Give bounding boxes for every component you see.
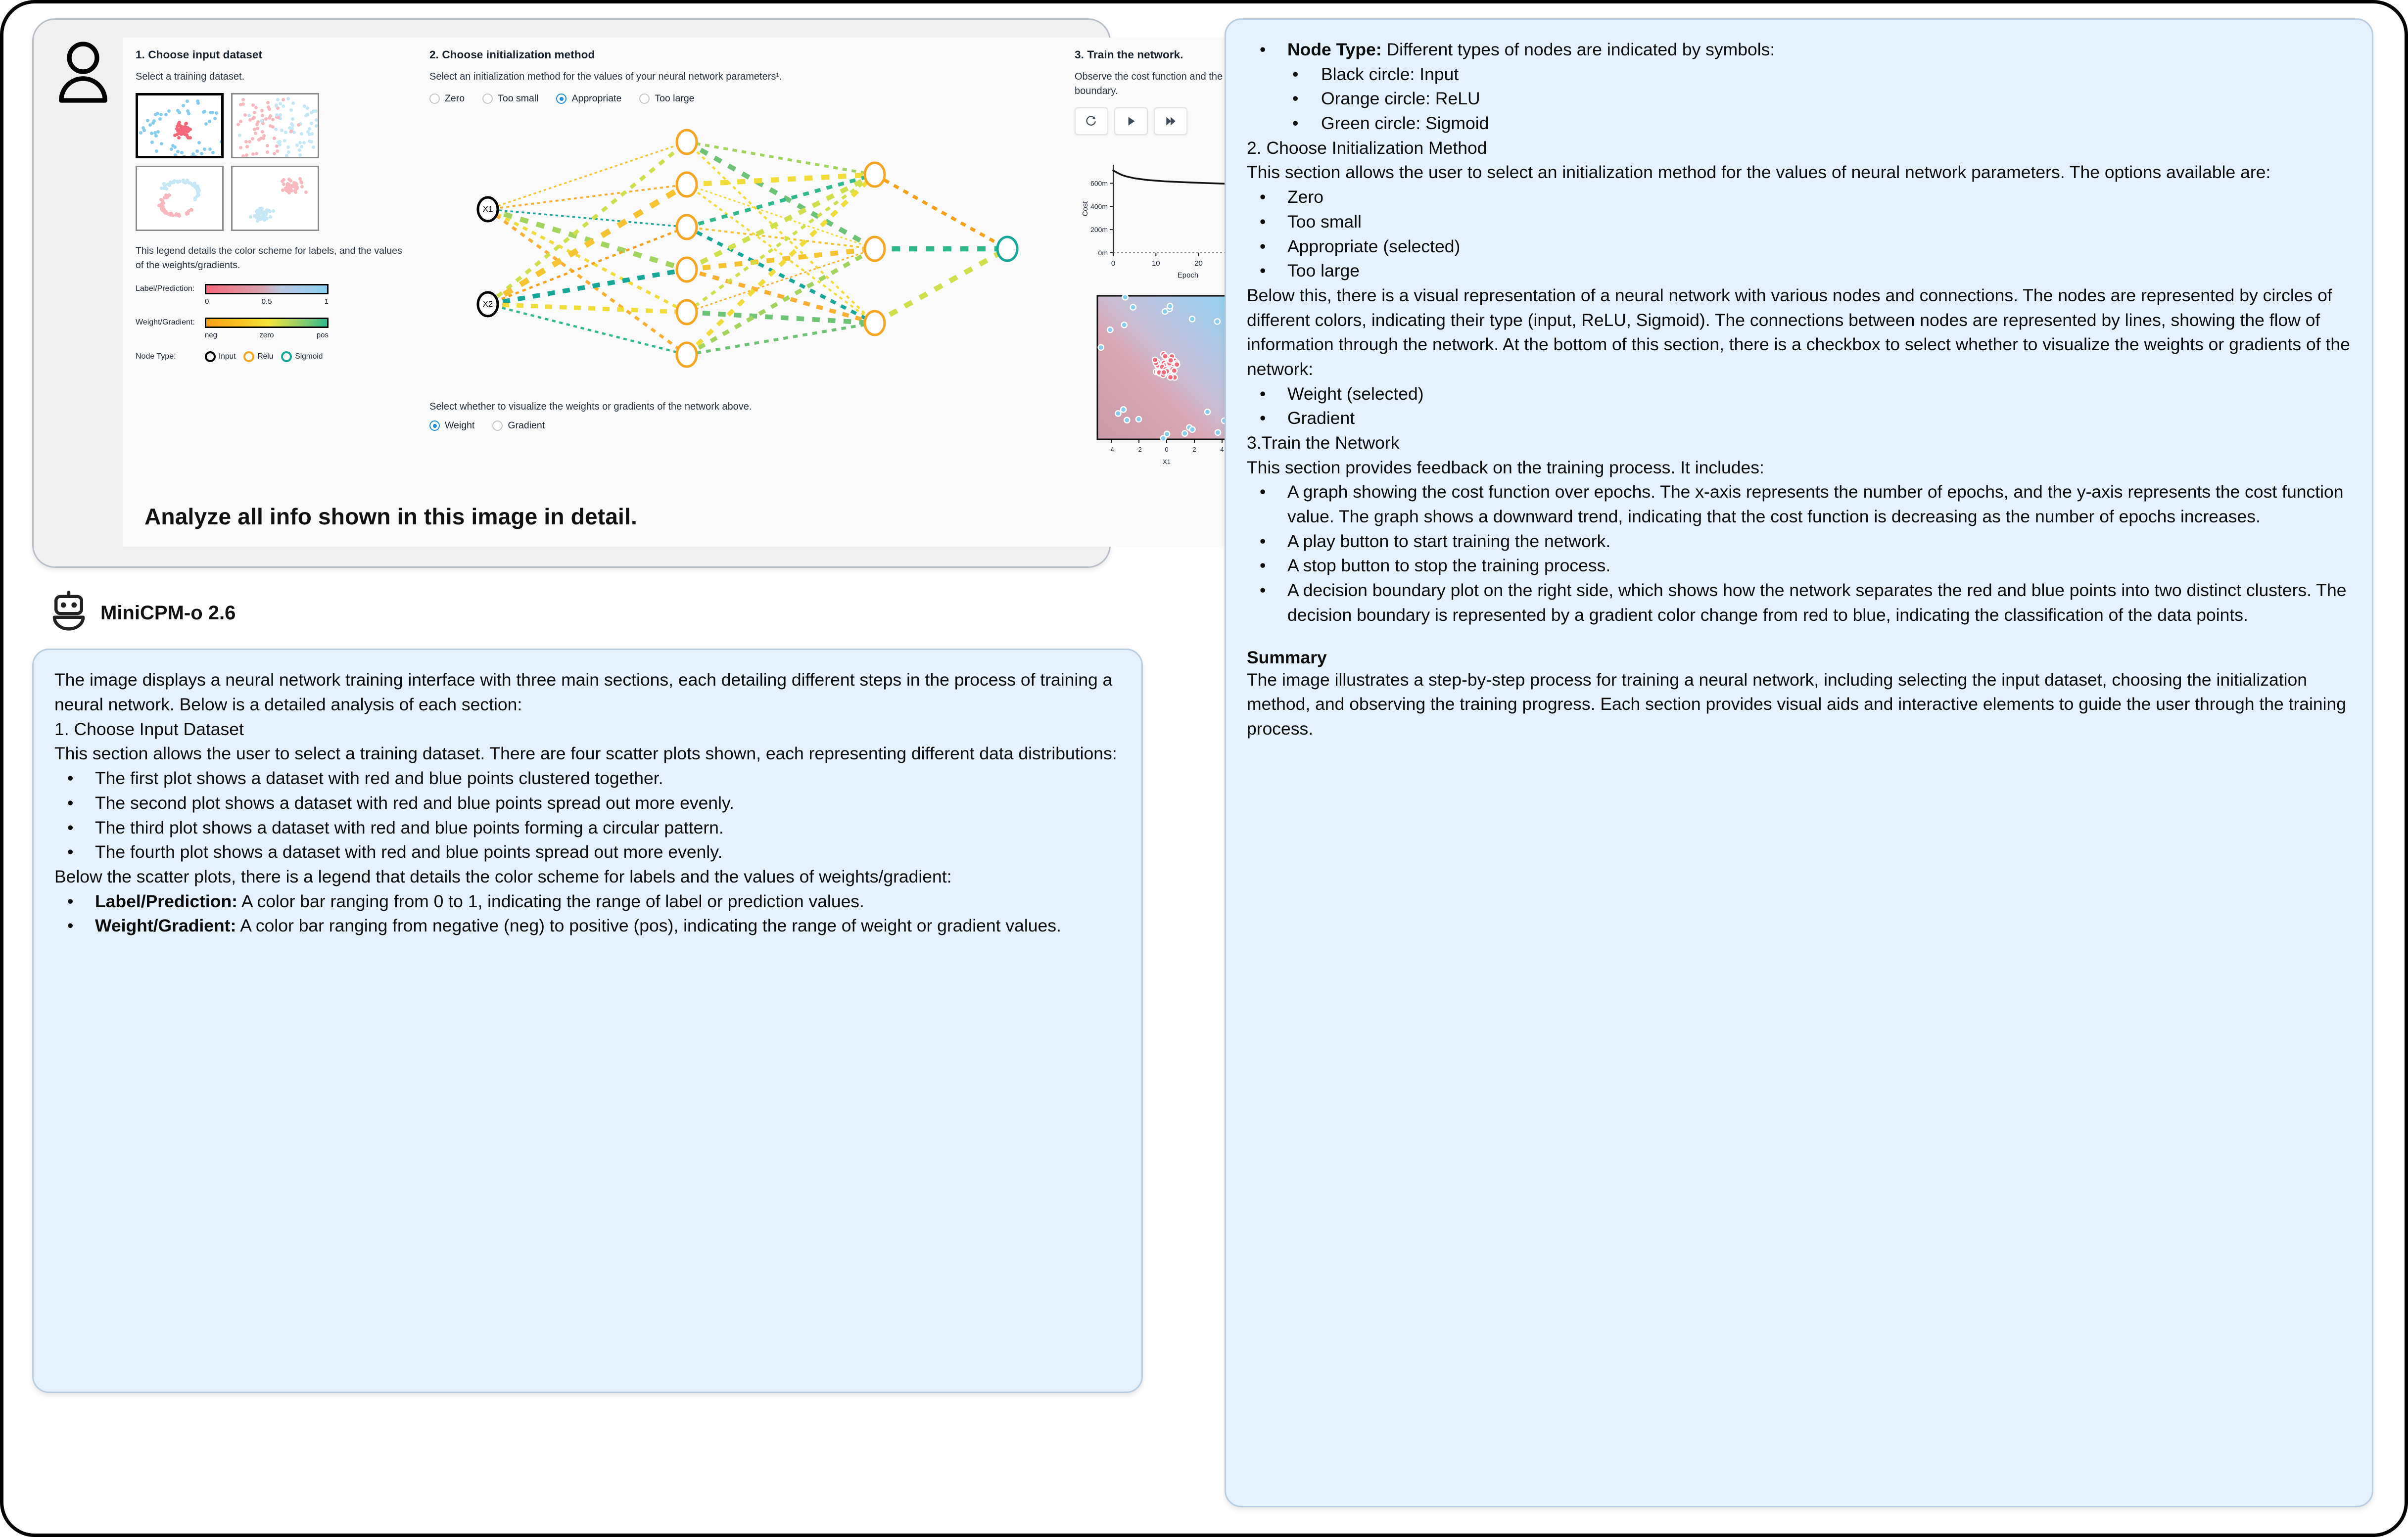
- x-tick-label: 20: [1194, 259, 1203, 268]
- play-button[interactable]: [1114, 107, 1148, 135]
- scatter-point: [253, 128, 256, 131]
- network-edge: [875, 175, 1007, 249]
- list-item: Appropriate (selected): [1247, 234, 2352, 259]
- network-node[interactable]: [677, 343, 697, 367]
- reset-icon: [1085, 115, 1098, 128]
- scatter-point: [300, 181, 303, 185]
- assistant-model-name: MiniCPM-o 2.6: [100, 602, 236, 624]
- label-prediction-ticks: 0 0.5 1: [205, 297, 329, 306]
- scatter-point: [265, 217, 269, 220]
- scatter-point: [239, 146, 242, 149]
- scatter-point: [282, 178, 285, 182]
- page-root: 1. Choose input dataset Select a trainin…: [0, 0, 2408, 1537]
- network-edge: [687, 175, 875, 185]
- init-option-too-small[interactable]: Too small: [482, 93, 538, 104]
- scatter-point: [302, 141, 306, 144]
- y-tick-label: 0m: [1098, 249, 1108, 257]
- scatter-point: [298, 141, 302, 144]
- scatter-point: [291, 124, 294, 127]
- wg-tick-2: pos: [287, 331, 329, 339]
- scatter-point: [251, 137, 254, 140]
- left-column: 1. Choose input dataset Select a trainin…: [32, 18, 1180, 1393]
- scatter-point: [148, 123, 152, 127]
- scatter-point: [208, 120, 211, 123]
- radio-weight-icon[interactable]: [429, 420, 440, 431]
- scatter-point: [289, 108, 293, 112]
- scatter-point: [286, 145, 290, 149]
- radio-gradient-icon[interactable]: [492, 420, 503, 431]
- scatter-point: [257, 217, 260, 221]
- node-type-label: Node Type:: [136, 352, 205, 361]
- scatter-point: [315, 124, 318, 128]
- scatter-point: [165, 187, 168, 190]
- scatter-point: [164, 113, 168, 116]
- answer-heading-3: 3.Train the Network: [1247, 431, 2352, 456]
- scatter-point: [258, 208, 262, 212]
- scatter-point: [275, 113, 279, 117]
- data-point: [1215, 319, 1220, 325]
- node-type-input: Input: [205, 351, 236, 362]
- scatter-point: [312, 145, 315, 149]
- y-tick-label: 200m: [1090, 226, 1108, 234]
- network-node[interactable]: [677, 173, 697, 196]
- viz-radio-group: Weight Gradient: [429, 420, 1066, 431]
- scatter-point: [256, 120, 260, 124]
- network-node[interactable]: [677, 258, 697, 281]
- data-point: [1152, 357, 1158, 363]
- network-node[interactable]: [997, 237, 1017, 261]
- sigmoid-node-label: Sigmoid: [295, 352, 323, 361]
- init-option-appropriate[interactable]: Appropriate: [556, 93, 621, 104]
- data-point: [1189, 317, 1195, 322]
- input-node-label: Input: [219, 352, 236, 361]
- scatter-point: [289, 179, 292, 183]
- sigmoid-node-icon: [281, 351, 292, 362]
- step2-title: 2. Choose initialization method: [429, 48, 1066, 61]
- node-type-bullet-list: Node Type: Different types of nodes are …: [1247, 38, 2352, 62]
- train-bullets-list: A graph showing the cost function over e…: [1247, 480, 2352, 627]
- scatter-point: [208, 147, 212, 151]
- data-point: [1215, 430, 1221, 435]
- scatter-point: [266, 144, 269, 147]
- scatter-point: [285, 185, 289, 188]
- scatter-point: [254, 106, 258, 109]
- weight-gradient-ticks: neg zero pos: [205, 331, 329, 339]
- y-tick-label: 400m: [1090, 203, 1108, 211]
- scatter-point: [158, 117, 162, 121]
- network-node[interactable]: [865, 237, 885, 261]
- scatter-point: [197, 141, 201, 144]
- scatter-point: [260, 109, 264, 112]
- viz-option-gradient[interactable]: Gradient: [492, 420, 545, 431]
- network-edge: [875, 249, 1007, 323]
- init-option-too-large[interactable]: Too large: [639, 93, 694, 104]
- scatter-point: [220, 140, 223, 143]
- step1-subtitle: Select a training dataset.: [136, 70, 413, 84]
- dataset-thumb-1[interactable]: [136, 93, 224, 158]
- scatter-point: [251, 152, 255, 156]
- scatter-point: [243, 113, 247, 117]
- scatter-point: [203, 147, 206, 151]
- init-option-appropriate-label: Appropriate: [571, 93, 621, 104]
- scatter-point: [282, 104, 285, 108]
- scatter-point: [276, 98, 280, 101]
- lp-tick-1: 0.5: [246, 297, 287, 306]
- scatter-point: [150, 132, 153, 135]
- data-point: [1115, 411, 1121, 417]
- scatter-point: [284, 131, 287, 134]
- network-node[interactable]: [865, 163, 885, 186]
- list-item: Label/Prediction: A color bar ranging fr…: [54, 889, 1122, 914]
- list-item: Black circle: Input: [1247, 62, 2352, 87]
- scatter-point: [259, 137, 263, 140]
- scatter-point: [236, 123, 240, 126]
- scatter-point: [173, 134, 177, 137]
- x-tick-label: 10: [1152, 259, 1160, 268]
- network-node[interactable]: [677, 130, 697, 154]
- weight-gradient-label: Weight/Gradient:: [136, 318, 205, 327]
- answer-intro: The image displays a neural network trai…: [54, 668, 1122, 717]
- list-item: The first plot shows a dataset with red …: [54, 766, 1122, 791]
- scatter-point: [300, 185, 304, 188]
- scatter-point: [241, 98, 245, 101]
- scatter-point: [256, 127, 259, 130]
- assistant-answer-bubble-left: The image displays a neural network trai…: [32, 649, 1143, 1393]
- scatter-point: [176, 150, 180, 153]
- input-node-icon: [205, 351, 216, 362]
- scatter-point: [189, 155, 193, 158]
- scatter-point: [315, 118, 318, 122]
- data-point: [1131, 305, 1136, 310]
- node-type-rest: Different types of nodes are indicated b…: [1382, 40, 1775, 59]
- scatter-point: [306, 106, 309, 110]
- right-column: Node Type: Different types of nodes are …: [1225, 18, 2377, 1507]
- scatter-point: [154, 113, 157, 116]
- x-tick-label: -2: [1136, 446, 1142, 453]
- network-node[interactable]: [865, 311, 885, 335]
- data-point: [1168, 358, 1174, 363]
- answer-para-1: This section allows the user to select a…: [54, 742, 1122, 766]
- step2-subtitle: Select an initialization method for the …: [429, 70, 1066, 84]
- node-type-relu: Relu: [243, 351, 273, 362]
- scatter-point: [247, 114, 251, 117]
- list-item: Zero: [1247, 185, 2352, 210]
- dataset-thumb-2[interactable]: [231, 93, 319, 158]
- answer-heading-1: 1. Choose Input Dataset: [54, 717, 1122, 742]
- answer-bullets-datasets: The first plot shows a dataset with red …: [54, 766, 1122, 865]
- scatter-point: [142, 129, 146, 132]
- scatter-point: [254, 132, 257, 135]
- network-edge: [488, 304, 687, 355]
- scatter-point: [182, 104, 185, 107]
- scatter-point: [189, 128, 192, 131]
- data-point: [1136, 417, 1141, 422]
- scatter-point: [291, 117, 294, 121]
- scatter-point: [287, 150, 290, 154]
- x-tick-label: 0: [1165, 446, 1168, 453]
- node-type-sub-list: Black circle: Input Orange circle: ReLU …: [1247, 62, 2352, 136]
- scatter-point: [285, 154, 288, 157]
- scatter-point: [291, 101, 295, 105]
- scatter-point: [178, 180, 182, 183]
- init-options-list: Zero Too small Appropriate (selected) To…: [1247, 185, 2352, 283]
- relu-node-icon: [243, 351, 254, 362]
- y-tick-label: 600m: [1090, 180, 1108, 187]
- scatter-point: [159, 113, 163, 116]
- data-point: [1122, 323, 1127, 328]
- scatter-point: [298, 148, 301, 152]
- weight-gradient-legend: Weight/Gradient:: [136, 318, 413, 328]
- scatter-point: [288, 126, 291, 130]
- scatter-point: [154, 134, 158, 138]
- network-edge: [687, 185, 875, 249]
- scatter-point: [186, 99, 189, 103]
- data-point: [1121, 407, 1126, 413]
- network-edge: [488, 270, 687, 304]
- scatter-point: [167, 109, 171, 113]
- scatter-point: [310, 132, 314, 136]
- person-icon: [53, 38, 113, 101]
- scatter-point: [195, 149, 199, 153]
- scatter-point: [178, 214, 181, 218]
- spacer: [1247, 628, 2352, 648]
- scatter-point: [276, 149, 279, 153]
- user-prompt-text: Analyze all info shown in this image in …: [136, 503, 1283, 530]
- list-item: A graph showing the cost function over e…: [1247, 480, 2352, 529]
- list-item: Orange circle: ReLU: [1247, 87, 2352, 111]
- scatter-point: [186, 212, 189, 215]
- scatter-point: [295, 187, 298, 190]
- init-option-too-small-label: Too small: [498, 93, 538, 104]
- legend-bullet-1-bold: Weight/Gradient:: [95, 916, 236, 935]
- scatter-point: [177, 122, 180, 126]
- scatter-point: [286, 97, 290, 100]
- radio-too-large-icon[interactable]: [639, 93, 650, 104]
- scatter-point: [261, 114, 264, 117]
- scatter-point: [215, 111, 218, 115]
- scatter-point: [177, 136, 181, 140]
- legend-bullet-0-rest: A color bar ranging from 0 to 1, indicat…: [237, 891, 864, 911]
- scatter-point: [278, 140, 282, 143]
- scatter-point: [156, 130, 160, 134]
- wg-tick-1: zero: [246, 331, 287, 339]
- scatter-point: [300, 145, 303, 148]
- scatter-point: [183, 155, 186, 158]
- list-item: A decision boundary plot on the right si…: [1247, 578, 2352, 627]
- reset-button[interactable]: [1075, 107, 1108, 135]
- scatter-point: [245, 153, 248, 157]
- scatter-point: [253, 111, 256, 114]
- answer-para-2: Below the scatter plots, there is a lege…: [54, 865, 1122, 889]
- scatter-point: [204, 122, 208, 126]
- init-option-zero[interactable]: Zero: [429, 93, 465, 104]
- step-forward-icon: [1164, 115, 1177, 128]
- scatter-point: [238, 134, 241, 137]
- scatter-point: [274, 128, 278, 131]
- network-node-label: X2: [483, 299, 493, 309]
- scatter-point: [252, 116, 256, 119]
- scatter-point: [173, 145, 177, 149]
- list-item: Weight (selected): [1247, 382, 2352, 407]
- network-node[interactable]: [677, 215, 697, 239]
- network-edge: [687, 175, 875, 312]
- scatter-point: [310, 111, 313, 114]
- y-axis-label: Cost: [1081, 201, 1089, 217]
- scatter-point: [146, 119, 149, 122]
- scatter-point: [262, 134, 266, 138]
- scatter-point: [191, 152, 195, 156]
- answer-bullets-legend: Label/Prediction: A color bar ranging fr…: [54, 889, 1122, 938]
- scatter-point: [261, 130, 264, 134]
- list-item: A stop button to stop the training proce…: [1247, 554, 2352, 578]
- scatter-point: [139, 131, 142, 135]
- scatter-point: [295, 143, 299, 147]
- scatter-point: [200, 152, 203, 155]
- x-tick-label: -4: [1108, 446, 1114, 453]
- label-prediction-label: Label/Prediction:: [136, 284, 205, 293]
- list-item: Weight/Gradient: A color bar ranging fro…: [54, 914, 1122, 938]
- scatter-point: [304, 190, 308, 194]
- viz-option-weight[interactable]: Weight: [429, 420, 474, 431]
- node-type-sigmoid: Sigmoid: [281, 351, 323, 362]
- x-tick-label: 0: [1111, 259, 1115, 268]
- legend-bullet-0-bold: Label/Prediction:: [95, 891, 237, 911]
- wg-tick-0: neg: [205, 331, 246, 339]
- relu-node-label: Relu: [257, 352, 273, 361]
- dataset-thumb-3[interactable]: [136, 166, 224, 231]
- list-item: Gradient: [1247, 406, 2352, 431]
- scatter-point: [297, 123, 300, 127]
- scatter-point: [267, 209, 271, 212]
- scatter-point: [185, 122, 188, 125]
- summary-text: The image illustrates a step-by-step pro…: [1247, 668, 2352, 742]
- scatter-point: [213, 117, 217, 120]
- list-item: Too large: [1247, 259, 2352, 283]
- answer-para-network: Below this, there is a visual representa…: [1247, 283, 2352, 382]
- step1-title: 1. Choose input dataset: [136, 48, 413, 61]
- label-prediction-colorbar: [205, 284, 329, 294]
- assistant-header: MiniCPM-o 2.6: [50, 591, 1180, 636]
- scatter-point: [282, 98, 285, 101]
- user-message-card: 1. Choose input dataset Select a trainin…: [32, 18, 1111, 568]
- step1-panel: 1. Choose input dataset Select a trainin…: [136, 48, 413, 486]
- scatter-point: [280, 129, 283, 132]
- data-point: [1124, 418, 1130, 423]
- scatter-point: [255, 152, 258, 155]
- viz-option-weight-label: Weight: [445, 420, 474, 431]
- scatter-point: [314, 109, 318, 113]
- scatter-point: [181, 132, 185, 135]
- legend-bullet-1-rest: A color bar ranging from negative (neg) …: [236, 916, 1061, 935]
- scatter-point: [178, 111, 181, 114]
- scatter-point: [191, 184, 194, 187]
- scatter-point: [271, 118, 275, 121]
- scatter-point: [266, 101, 270, 104]
- scatter-point: [269, 215, 272, 219]
- scatter-point: [304, 114, 308, 117]
- scatter-point: [268, 116, 271, 120]
- list-item: The second plot shows a dataset with red…: [54, 791, 1122, 816]
- dataset-thumb-4[interactable]: [231, 166, 319, 231]
- scatter-point: [273, 152, 276, 155]
- data-point: [1162, 354, 1168, 359]
- scatter-point: [211, 151, 215, 154]
- scatter-point: [161, 208, 165, 212]
- x-tick-label: 2: [1192, 446, 1196, 453]
- network-edge: [687, 175, 875, 270]
- answer-para-init: This section allows the user to select a…: [1247, 160, 2352, 185]
- scatter-point: [182, 180, 186, 184]
- scatter-point: [272, 209, 275, 213]
- data-point: [1161, 436, 1166, 441]
- scatter-point: [174, 153, 177, 157]
- init-option-too-large-label: Too large: [655, 93, 694, 104]
- scatter-point: [284, 188, 288, 192]
- data-point: [1161, 370, 1167, 375]
- data-point: [1172, 368, 1177, 373]
- dataset-thumbnail-grid: [136, 93, 413, 231]
- scatter-point: [279, 102, 282, 105]
- scatter-point: [266, 150, 269, 154]
- data-point: [1205, 409, 1210, 415]
- scatter-point: [170, 181, 174, 185]
- neural-network-diagram[interactable]: X1X2: [429, 111, 1066, 391]
- label-prediction-legend: Label/Prediction:: [136, 284, 413, 294]
- scatter-point: [300, 132, 303, 136]
- x-axis-label: Epoch: [1178, 271, 1199, 279]
- scatter-point: [155, 149, 158, 153]
- data-point: [1098, 345, 1104, 350]
- play-icon: [1125, 115, 1137, 128]
- x-tick-label: 4: [1220, 446, 1224, 453]
- answer-para-train: This section provides feedback on the tr…: [1247, 456, 2352, 480]
- scatter-point: [298, 153, 302, 157]
- list-item: A play button to start training the netw…: [1247, 529, 2352, 554]
- scatter-point: [273, 137, 276, 140]
- scatter-point: [190, 208, 193, 212]
- scatter-point: [150, 140, 154, 144]
- scatter-point: [239, 120, 242, 123]
- data-point: [1123, 295, 1128, 300]
- viz-options-list: Weight (selected) Gradient: [1247, 382, 2352, 431]
- scatter-point: [152, 119, 156, 123]
- network-node-label: X1: [483, 204, 493, 214]
- legend-note: This legend details the color scheme for…: [136, 244, 413, 273]
- weight-gradient-colorbar: [205, 318, 329, 328]
- list-item: Too small: [1247, 210, 2352, 234]
- scatter-point: [275, 103, 278, 107]
- data-point: [1182, 431, 1187, 436]
- lp-tick-0: 0: [205, 297, 246, 306]
- scatter-point: [310, 122, 313, 125]
- scatter-point: [249, 215, 252, 219]
- step-forward-button[interactable]: [1154, 107, 1187, 135]
- network-node[interactable]: [677, 300, 697, 324]
- init-option-zero-label: Zero: [445, 93, 465, 104]
- lp-tick-2: 1: [287, 297, 329, 306]
- step2-panel: 2. Choose initialization method Select a…: [413, 48, 1066, 486]
- radio-appropriate-icon[interactable]: [556, 93, 567, 104]
- x-axis-label: X1: [1163, 458, 1171, 466]
- radio-too-small-icon[interactable]: [482, 93, 493, 104]
- scatter-point: [294, 190, 297, 194]
- scatter-point: [222, 125, 224, 128]
- scatter-point: [241, 154, 245, 158]
- scatter-point: [170, 147, 173, 151]
- scatter-point: [245, 145, 249, 148]
- radio-zero-icon[interactable]: [429, 93, 440, 104]
- list-item: Node Type: Different types of nodes are …: [1247, 38, 2352, 62]
